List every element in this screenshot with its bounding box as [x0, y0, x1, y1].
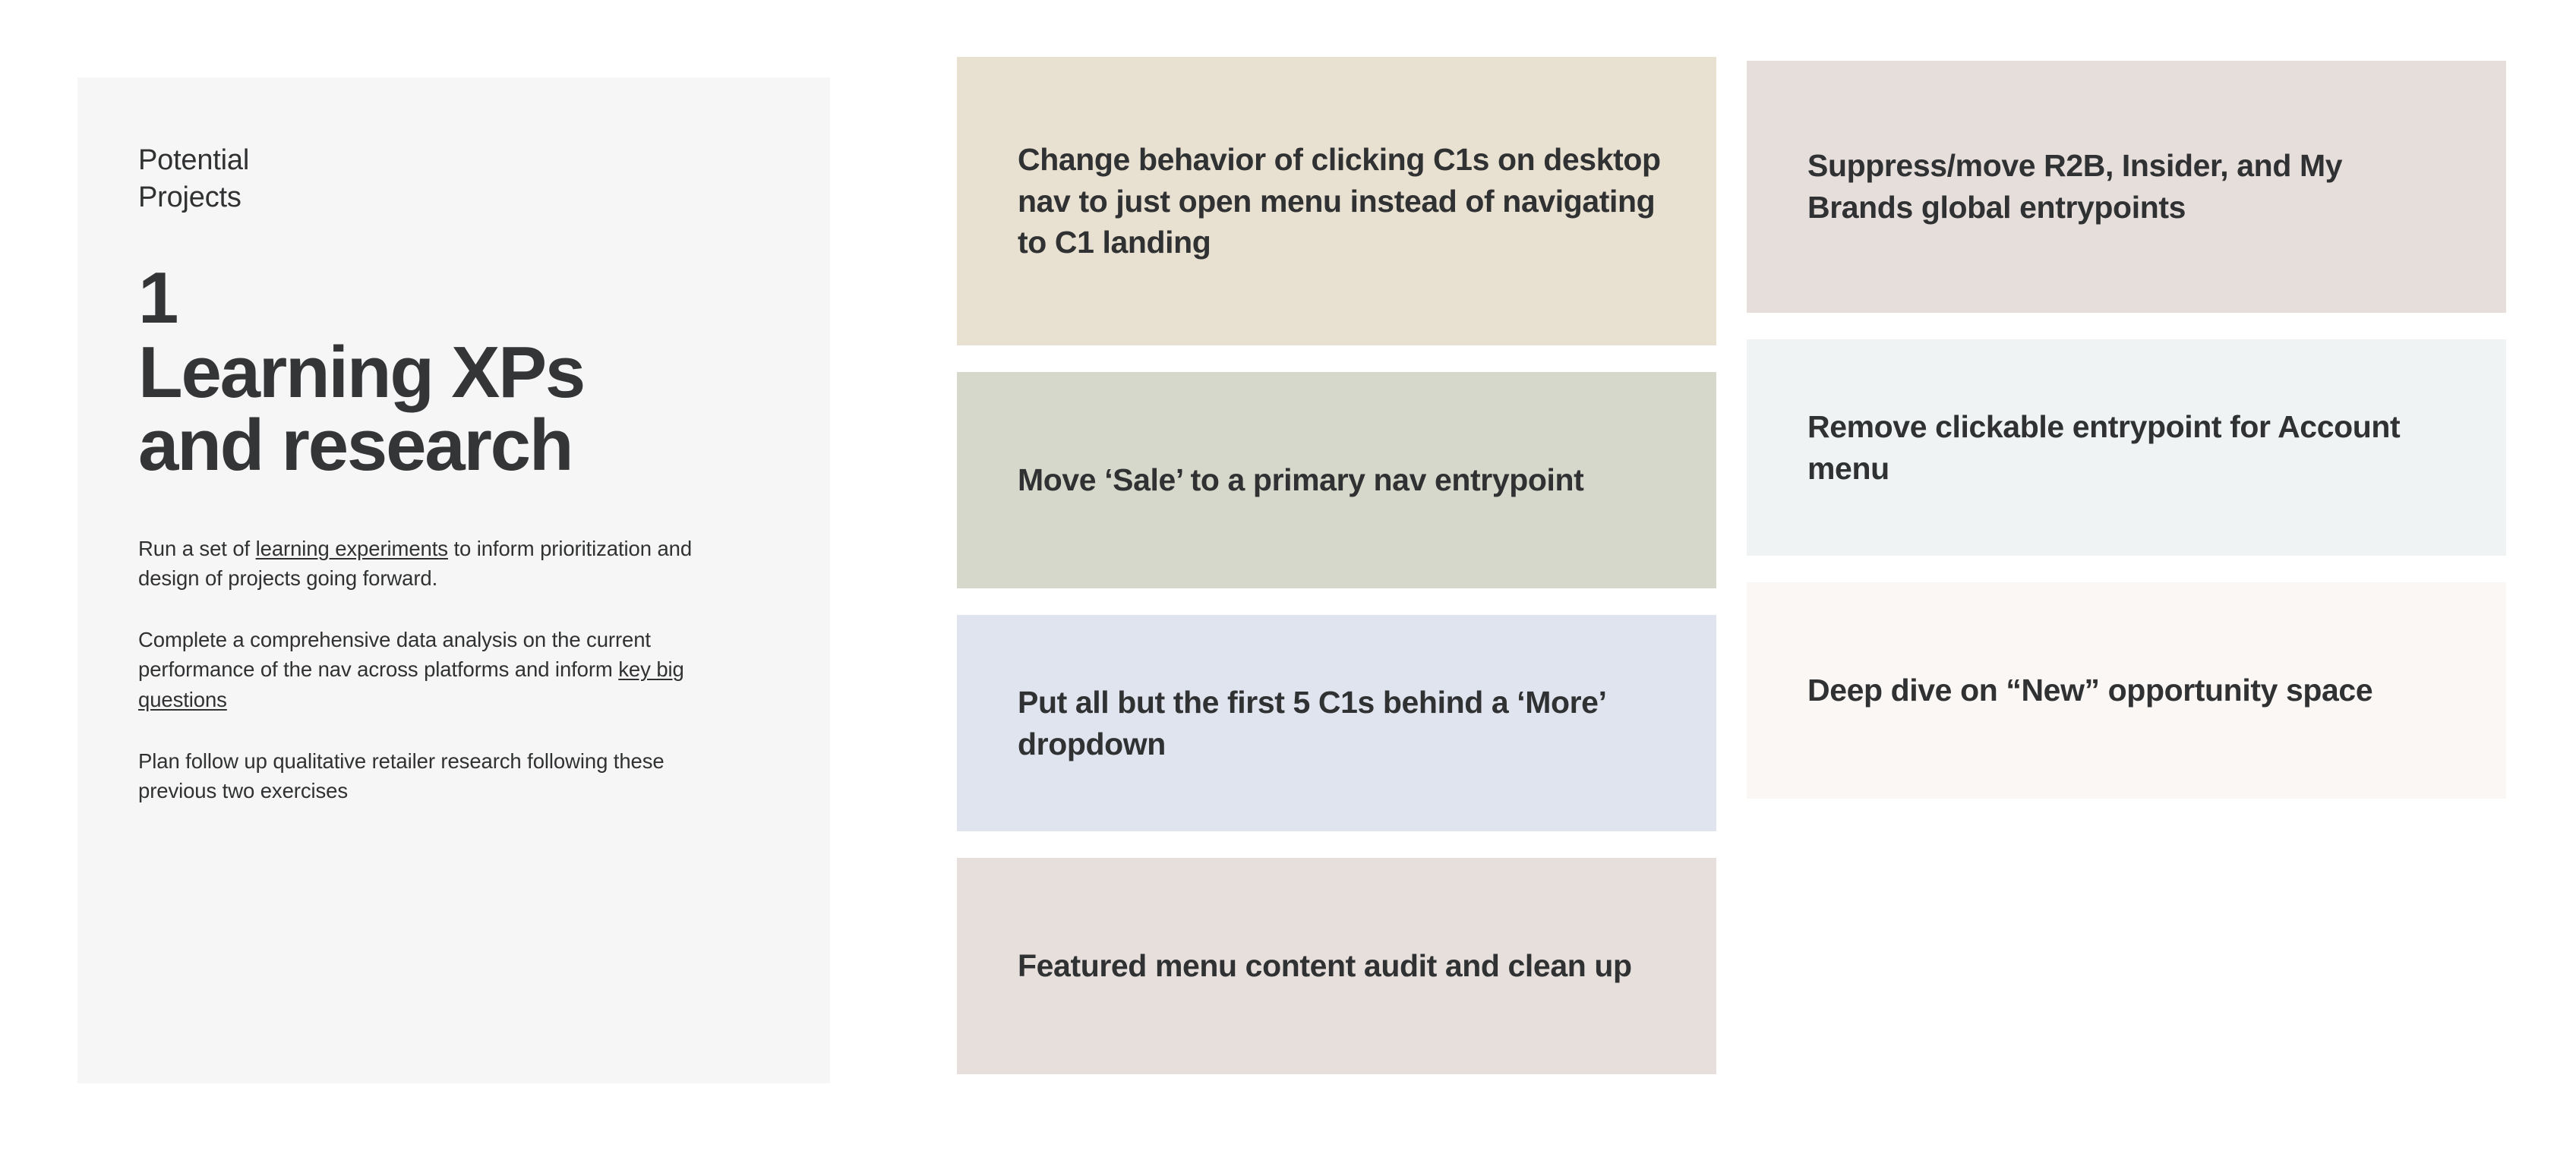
panel-number: 1 — [138, 265, 762, 332]
page-title: Learning XPs and research — [138, 336, 762, 482]
project-card[interactable]: Deep dive on “New” opportunity space — [1747, 582, 2506, 799]
paragraph-1-before: Run a set of — [138, 537, 256, 560]
project-card[interactable]: Featured menu content audit and clean up — [957, 858, 1716, 1074]
project-card-label: Featured menu content audit and clean up — [1018, 945, 1632, 987]
project-card[interactable]: Move ‘Sale’ to a primary nav entrypoint — [957, 372, 1716, 588]
project-card-label: Deep dive on “New” opportunity space — [1807, 670, 2372, 711]
project-card-label: Remove clickable entrypoint for Account … — [1807, 406, 2453, 489]
project-card-label: Move ‘Sale’ to a primary nav entrypoint — [1018, 459, 1583, 501]
panel-eyebrow: Potential Projects — [138, 142, 762, 216]
project-card-label: Change behavior of clicking C1s on deskt… — [1018, 139, 1663, 263]
paragraph-3: Plan follow up qualitative retailer rese… — [138, 746, 700, 805]
paragraph-1: Run a set of learning experiments to inf… — [138, 534, 700, 593]
left-panel: Potential Projects 1 Learning XPs and re… — [77, 77, 830, 1083]
paragraph-2: Complete a comprehensive data analysis o… — [138, 625, 700, 714]
project-card[interactable]: Change behavior of clicking C1s on deskt… — [957, 57, 1716, 345]
link-learning-experiments[interactable]: learning experiments — [256, 537, 448, 560]
project-card[interactable]: Suppress/move R2B, Insider, and My Brand… — [1747, 61, 2506, 313]
project-card-label: Suppress/move R2B, Insider, and My Brand… — [1807, 145, 2453, 228]
project-card-label: Put all but the first 5 C1s behind a ‘Mo… — [1018, 682, 1663, 764]
paragraph-3-before: Plan follow up qualitative retailer rese… — [138, 749, 665, 802]
slide-canvas: Potential Projects 1 Learning XPs and re… — [0, 0, 2576, 1160]
right-card-column: Suppress/move R2B, Insider, and My Brand… — [1747, 61, 2506, 799]
paragraph-2-before: Complete a comprehensive data analysis o… — [138, 628, 651, 681]
middle-card-column: Change behavior of clicking C1s on deskt… — [957, 57, 1716, 1074]
project-card[interactable]: Remove clickable entrypoint for Account … — [1747, 339, 2506, 556]
project-card[interactable]: Put all but the first 5 C1s behind a ‘Mo… — [957, 615, 1716, 831]
